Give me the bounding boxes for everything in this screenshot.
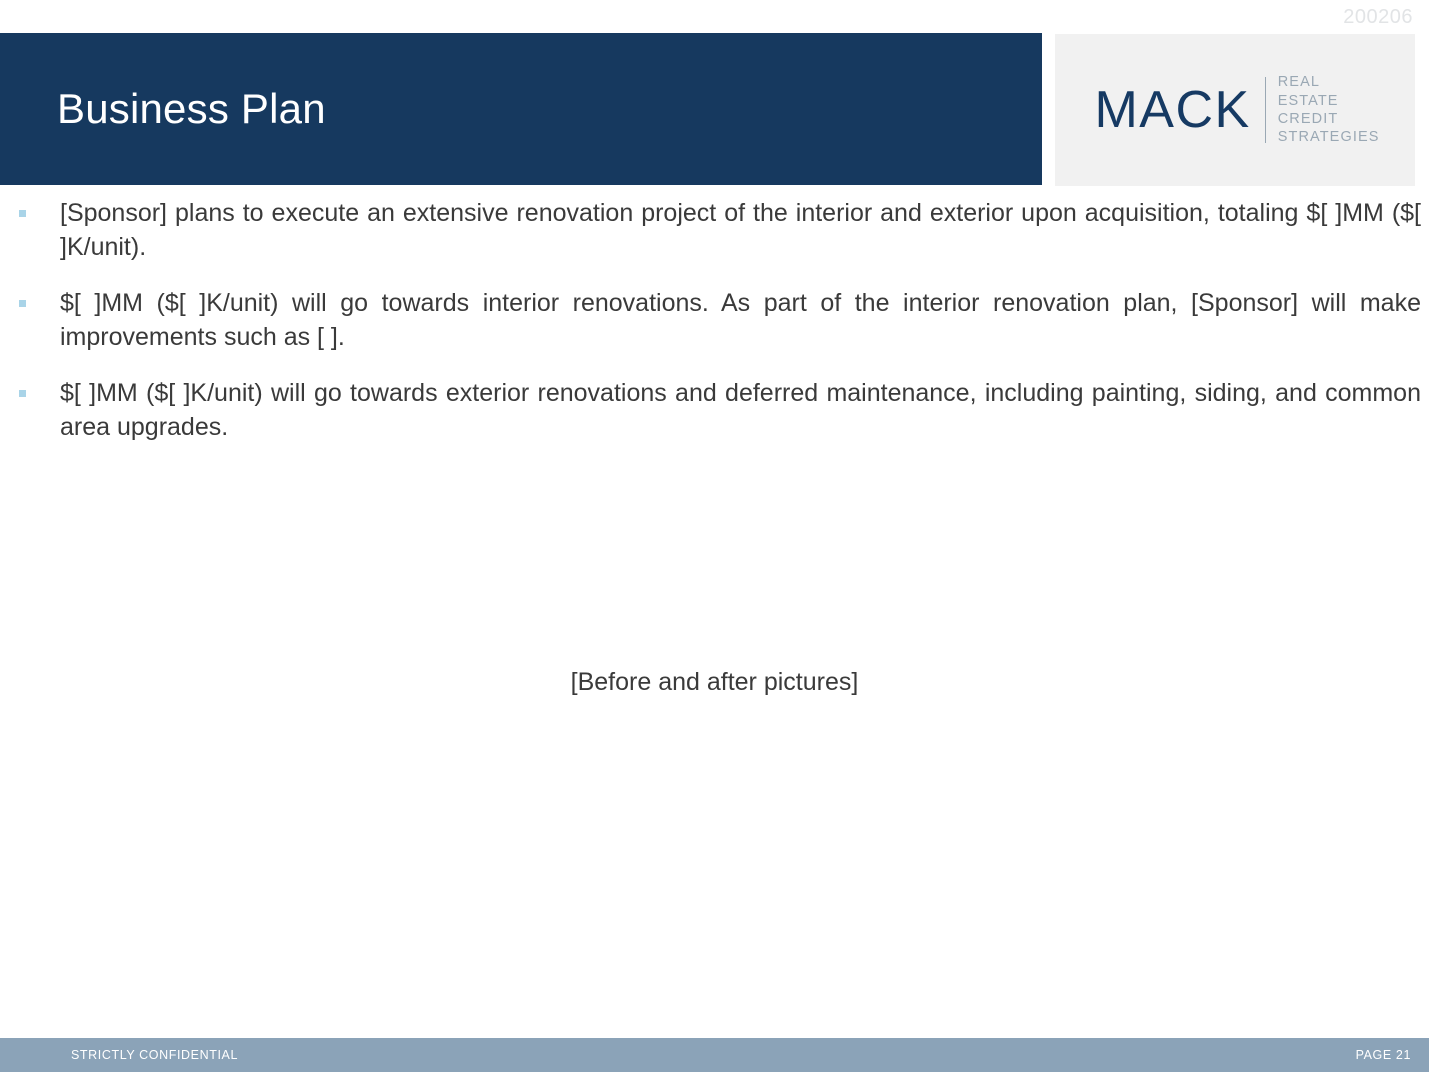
- bullet-item: $[ ]MM ($[ ]K/unit) will go towards inte…: [0, 286, 1429, 354]
- logo-tagline-line-3: CREDIT: [1278, 110, 1380, 128]
- document-number: 200206: [1343, 6, 1413, 29]
- slide-canvas: 200206 Business Plan MACK REAL ESTATE CR…: [0, 0, 1429, 1072]
- square-bullet-icon: [19, 390, 26, 397]
- logo-tagline-line-2: ESTATE: [1278, 92, 1380, 110]
- bullet-item: [Sponsor] plans to execute an extensive …: [0, 196, 1429, 264]
- body-content: [Sponsor] plans to execute an extensive …: [0, 196, 1429, 466]
- mack-wordmark: MACK: [1094, 84, 1250, 136]
- header-bar: Business Plan: [0, 33, 1042, 185]
- bullet-text: $[ ]MM ($[ ]K/unit) will go towards exte…: [60, 376, 1421, 444]
- footer-bar: STRICTLY CONFIDENTIAL PAGE 21: [0, 1038, 1429, 1072]
- logo-lockup: MACK REAL ESTATE CREDIT STRATEGIES: [1094, 73, 1379, 146]
- confidentiality-notice: STRICTLY CONFIDENTIAL: [71, 1048, 238, 1062]
- logo-tagline: REAL ESTATE CREDIT STRATEGIES: [1278, 73, 1380, 146]
- square-bullet-icon: [19, 210, 26, 217]
- page-number: PAGE 21: [1356, 1048, 1411, 1062]
- bullet-item: $[ ]MM ($[ ]K/unit) will go towards exte…: [0, 376, 1429, 444]
- square-bullet-icon: [19, 300, 26, 307]
- bullet-text: $[ ]MM ($[ ]K/unit) will go towards inte…: [60, 286, 1421, 354]
- logo-tagline-line-4: STRATEGIES: [1278, 128, 1380, 146]
- logo-tagline-line-1: REAL: [1278, 73, 1380, 91]
- logo-divider: [1265, 77, 1266, 143]
- brand-logo-panel: MACK REAL ESTATE CREDIT STRATEGIES: [1055, 34, 1415, 186]
- bullet-text: [Sponsor] plans to execute an extensive …: [60, 196, 1421, 264]
- image-placeholder-note: [Before and after pictures]: [0, 668, 1429, 697]
- page-title: Business Plan: [57, 85, 326, 133]
